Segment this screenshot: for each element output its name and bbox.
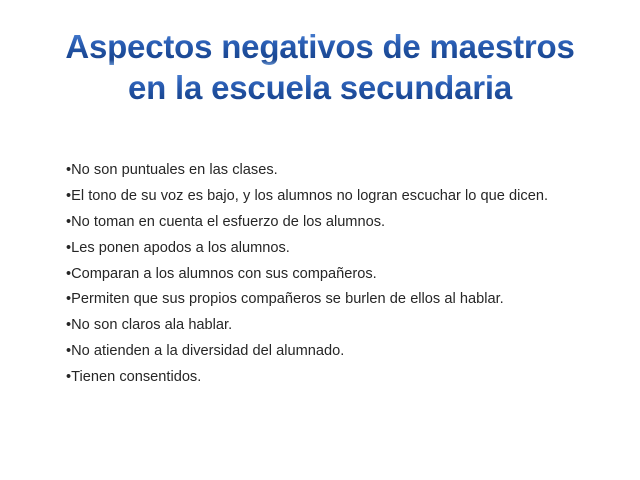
list-item-text: No son puntuales en las clases. <box>71 162 278 178</box>
list-item: •No toman en cuenta el esfuerzo de los a… <box>66 212 562 234</box>
slide-title-line-2: en la escuela secundaria <box>0 67 640 108</box>
list-item-text: No toman en cuenta el esfuerzo de los al… <box>71 214 385 230</box>
list-item: •No atienden a la diversidad del alumnad… <box>66 341 562 363</box>
list-item: •Tienen consentidos. <box>66 367 562 389</box>
slide-title: Aspectos negativos de maestros en la esc… <box>0 26 640 108</box>
list-item-text: Tienen consentidos. <box>71 369 201 385</box>
list-item: •Permiten que sus propios compañeros se … <box>66 289 562 311</box>
list-item-text: No atienden a la diversidad del alumnado… <box>71 343 344 359</box>
list-item: •Les ponen apodos a los alumnos. <box>66 238 562 260</box>
list-item-text: Les ponen apodos a los alumnos. <box>71 240 290 256</box>
list-item-text: Permiten que sus propios compañeros se b… <box>71 291 504 307</box>
list-item-text: No son claros ala hablar. <box>71 317 232 333</box>
list-item: •El tono de su voz es bajo, y los alumno… <box>66 186 562 208</box>
list-item: •No son puntuales en las clases. <box>66 160 562 182</box>
list-item: •No son claros ala hablar. <box>66 315 562 337</box>
list-item-text: El tono de su voz es bajo, y los alumnos… <box>71 188 548 204</box>
list-item: •Comparan a los alumnos con sus compañer… <box>66 264 562 286</box>
slide-title-line-1: Aspectos negativos de maestros <box>0 26 640 67</box>
bullet-list: •No son puntuales en las clases. •El ton… <box>66 160 562 393</box>
slide-canvas: Aspectos negativos de maestros en la esc… <box>0 0 640 480</box>
list-item-text: Comparan a los alumnos con sus compañero… <box>71 266 377 282</box>
